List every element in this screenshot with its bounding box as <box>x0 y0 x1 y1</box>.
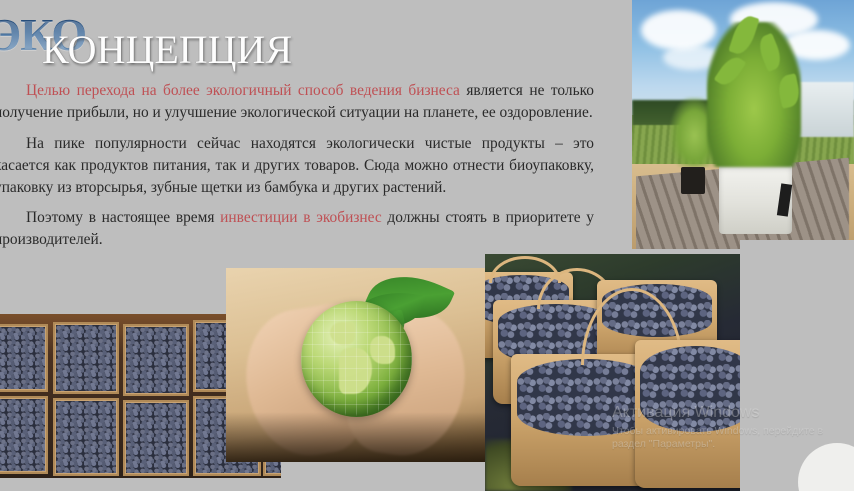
photo-shadow-overlay <box>226 412 485 462</box>
title-main-text: КОНЦЕПЦИЯ <box>42 26 292 73</box>
berries-fill <box>56 401 116 473</box>
crate <box>123 400 189 476</box>
berries-fill <box>126 403 186 473</box>
berries-fill <box>0 327 45 389</box>
basket <box>635 340 740 488</box>
crate <box>0 324 48 392</box>
paragraph-1: Целью перехода на более экологичный спос… <box>0 80 594 124</box>
paragraph-3: Поэтому в настоящее время инвестиции в э… <box>0 207 594 251</box>
title-eco-text: ЭКО <box>0 8 86 61</box>
crate <box>123 324 189 396</box>
small-black-pot <box>681 167 705 194</box>
paragraph-2: На пике популярности сейчас находятся эк… <box>0 133 594 199</box>
berries-fill <box>640 346 740 432</box>
berries-fill <box>0 399 45 471</box>
paragraph-3-accent: инвестиции в экобизнес <box>220 209 382 226</box>
crate <box>53 398 119 476</box>
presentation-slide: ЭКО КОНЦЕПЦИЯ Целью перехода на более эк… <box>0 0 854 491</box>
slide-body-text: Целью перехода на более экологичный спос… <box>0 80 594 260</box>
green-earth-globe <box>301 301 412 417</box>
berries-fill <box>56 325 116 391</box>
cloud-shape <box>641 10 716 50</box>
globe-grid-lines <box>301 301 412 417</box>
paragraph-3-before: Поэтому в настоящее время <box>26 209 220 226</box>
image-hands-holding-globe <box>226 268 485 462</box>
image-blueberry-seedlings <box>632 0 854 249</box>
crate <box>53 322 119 394</box>
crate <box>0 396 48 474</box>
berries-fill <box>126 327 186 393</box>
slide-title: ЭКО КОНЦЕПЦИЯ <box>0 6 410 68</box>
paragraph-1-accent: Целью перехода на более экологичный спос… <box>26 82 460 99</box>
image-blueberry-baskets <box>485 254 740 491</box>
